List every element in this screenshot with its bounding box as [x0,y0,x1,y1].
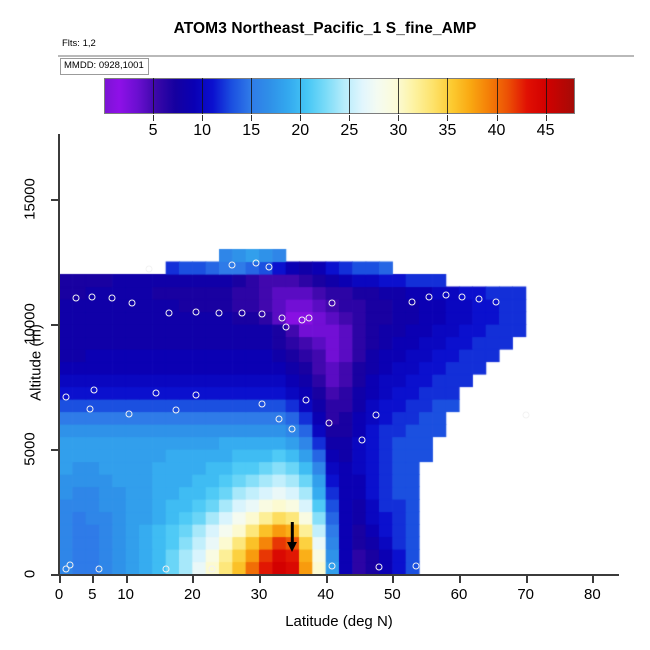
flights-annotation: Flts: 1,2 [62,38,96,49]
plot-root: ATOM3 Northeast_Pacific_1 S_fine_AMP Flt… [0,0,650,650]
x-tick [92,576,94,583]
flight-track-marker [306,314,313,321]
flight-track-marker [172,407,179,414]
flight-track-marker [109,294,116,301]
colorbar-tick [398,78,399,114]
flight-track-marker [209,565,216,572]
flight-track-marker [326,419,333,426]
colorbar-tick-mark [349,115,350,121]
flight-track-marker [279,314,286,321]
heatmap-raster [59,134,619,574]
flight-track-marker [412,563,419,570]
flight-track-marker [126,411,133,418]
y-tick-label: 15000 [22,178,39,220]
colorbar-tick-mark [447,115,448,121]
plot-panel [59,134,619,574]
flight-track-marker [239,309,246,316]
flight-track-marker [372,412,379,419]
flight-track-marker [252,259,259,266]
flight-track-marker [152,389,159,396]
x-tick-label: 20 [184,586,201,603]
colorbar-tick-mark [153,115,154,121]
colorbar-tick [546,78,547,114]
x-tick-label: 10 [117,586,134,603]
flight-track-marker [276,416,283,423]
flight-track-marker [302,397,309,404]
colorbar-tick-mark [398,115,399,121]
colorbar: 51015202530354045 [104,78,575,114]
y-tick [51,199,59,201]
flight-track-marker [129,299,136,306]
colorbar-tick [153,78,154,114]
x-tick-label: 5 [88,586,96,603]
flight-track-marker [329,299,336,306]
x-tick [126,576,128,583]
flight-track-marker [89,293,96,300]
flight-track-marker [162,565,169,572]
y-tick-label: 0 [22,570,39,578]
colorbar-tick-mark [497,115,498,121]
flight-track-marker [376,563,383,570]
flight-track-marker [62,393,69,400]
x-axis-title: Latitude (deg N) [59,613,619,630]
x-tick [592,576,594,583]
flight-track-marker [426,293,433,300]
flight-track-marker [282,323,289,330]
x-tick-label: 80 [584,586,601,603]
flight-track-marker [492,298,499,305]
y-tick [51,324,59,326]
flight-track-marker [259,311,266,318]
arrow-head [287,542,297,552]
flight-track-marker [90,387,97,394]
x-tick-label: 40 [317,586,334,603]
colorbar-gradient [104,78,575,114]
y-axis-title: Altitude (m) [28,283,45,443]
flight-track-marker [192,308,199,315]
x-tick-label: 60 [451,586,468,603]
x-tick [392,576,394,583]
mmdd-annotation: MMDD: 0928,1001 [60,58,149,75]
latitude-pointer-arrow [286,522,298,554]
colorbar-tick [349,78,350,114]
flight-track-marker [72,294,79,301]
flight-track-marker [289,426,296,433]
flight-track-marker [266,263,273,270]
flight-track-marker [442,292,449,299]
y-tick [51,449,59,451]
colorbar-tick-mark [300,115,301,121]
x-tick-label: 70 [517,586,534,603]
x-tick [526,576,528,583]
flight-track-marker [166,309,173,316]
flight-track-marker [476,296,483,303]
y-tick [51,574,59,576]
colorbar-tick [251,78,252,114]
page-title: ATOM3 Northeast_Pacific_1 S_fine_AMP [0,20,650,38]
colorbar-tick-mark [251,115,252,121]
flight-track-marker [66,562,73,569]
x-tick-label: 0 [55,586,63,603]
colorbar-tick-mark [546,115,547,121]
flight-track-marker [216,309,223,316]
x-tick-label: 50 [384,586,401,603]
flight-track-marker [459,293,466,300]
flight-track-marker [229,262,236,269]
x-tick [459,576,461,583]
flight-track-marker [259,401,266,408]
flight-track-marker [86,406,93,413]
colorbar-tick [300,78,301,114]
flight-track-marker [359,437,366,444]
flight-track-marker [329,562,336,569]
flight-track-marker [522,412,529,419]
arrow-shaft [291,522,293,544]
colorbar-tick [202,78,203,114]
x-tick [326,576,328,583]
x-tick [59,576,61,583]
x-tick [192,576,194,583]
flight-track-marker [96,566,103,573]
colorbar-tick [497,78,498,114]
x-tick [259,576,261,583]
flight-track-marker [409,298,416,305]
flight-track-marker [192,392,199,399]
header-divider [58,55,634,57]
flight-track-marker [146,266,153,273]
colorbar-tick [447,78,448,114]
colorbar-tick-mark [202,115,203,121]
x-axis-line [59,574,619,576]
x-tick-label: 30 [251,586,268,603]
